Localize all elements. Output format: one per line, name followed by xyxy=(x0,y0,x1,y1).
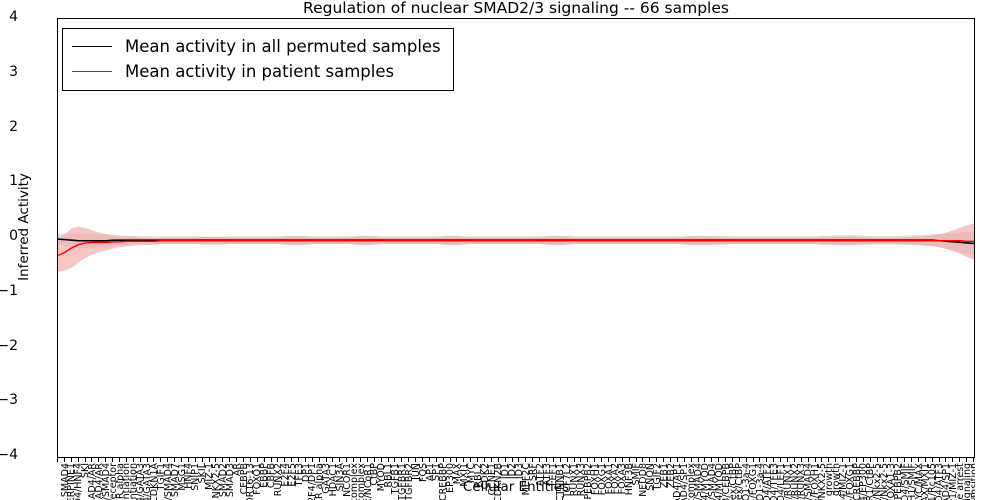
x-tick-mark xyxy=(663,458,664,462)
x-tick-mark xyxy=(952,458,953,462)
x-tick-mark xyxy=(188,458,189,462)
y-tick-label: −3 xyxy=(0,392,18,408)
y-tick-label: 4 xyxy=(0,9,18,25)
x-tick-mark xyxy=(360,458,361,462)
x-tick-mark xyxy=(656,458,657,462)
x-tick-mark xyxy=(119,458,120,462)
x-tick-mark xyxy=(443,458,444,462)
x-tick-mark xyxy=(484,458,485,462)
x-tick-mark xyxy=(753,458,754,462)
x-tick-mark xyxy=(539,458,540,462)
x-tick-mark xyxy=(236,458,237,462)
y-tick-label: −2 xyxy=(0,338,18,354)
x-tick-mark xyxy=(229,458,230,462)
x-tick-mark xyxy=(939,458,940,462)
x-tick-mark xyxy=(746,458,747,462)
chart-figure: Regulation of nuclear SMAD2/3 signaling … xyxy=(0,0,1000,500)
x-tick-mark xyxy=(580,458,581,462)
x-tick-mark xyxy=(560,458,561,462)
y-tick-label: 0 xyxy=(0,228,18,244)
x-tick-mark xyxy=(463,458,464,462)
x-tick-mark xyxy=(85,458,86,462)
x-tick-mark xyxy=(202,458,203,462)
x-tick-mark xyxy=(160,458,161,462)
y-tick-label: 1 xyxy=(0,173,18,189)
x-tick-mark xyxy=(546,458,547,462)
x-tick-mark xyxy=(629,458,630,462)
x-tick-mark xyxy=(401,458,402,462)
x-tick-mark xyxy=(890,458,891,462)
x-tick-mark xyxy=(174,458,175,462)
x-tick-mark xyxy=(842,458,843,462)
x-tick-mark xyxy=(215,458,216,462)
x-tick-mark xyxy=(422,458,423,462)
x-tick-mark xyxy=(291,458,292,462)
x-tick-mark xyxy=(787,458,788,462)
x-tick-mark xyxy=(305,458,306,462)
y-tick-label: −1 xyxy=(0,283,18,299)
x-tick-mark xyxy=(126,458,127,462)
x-tick-mark xyxy=(636,458,637,462)
x-tick-mark xyxy=(367,458,368,462)
y-tick-label: 3 xyxy=(0,64,18,80)
x-tick-mark xyxy=(353,458,354,462)
x-tick-mark xyxy=(711,458,712,462)
x-axis-label: Cellular Entities xyxy=(57,479,975,495)
x-tick-mark xyxy=(849,458,850,462)
x-tick-mark xyxy=(195,458,196,462)
x-tick-mark xyxy=(298,458,299,462)
x-tick-mark xyxy=(821,458,822,462)
x-tick-mark xyxy=(945,458,946,462)
legend-line-swatch xyxy=(72,46,112,47)
x-tick-mark xyxy=(973,458,974,462)
x-tick-mark xyxy=(828,458,829,462)
x-tick-mark xyxy=(966,458,967,462)
x-tick-mark xyxy=(863,458,864,462)
x-tick-mark xyxy=(518,458,519,462)
x-tick-mark xyxy=(704,458,705,462)
x-tick-mark xyxy=(815,458,816,462)
x-tick-mark xyxy=(277,458,278,462)
x-tick-mark xyxy=(773,458,774,462)
x-tick-mark xyxy=(153,458,154,462)
x-tick-mark xyxy=(794,458,795,462)
x-tick-mark xyxy=(691,458,692,462)
x-tick-mark xyxy=(374,458,375,462)
x-tick-mark xyxy=(64,458,65,462)
x-tick-mark xyxy=(608,458,609,462)
x-tick-mark xyxy=(257,458,258,462)
x-tick-mark xyxy=(415,458,416,462)
x-tick-mark xyxy=(332,458,333,462)
x-tick-mark xyxy=(498,458,499,462)
x-tick-mark xyxy=(264,458,265,462)
x-tick-mark xyxy=(491,458,492,462)
x-tick-mark xyxy=(601,458,602,462)
x-tick-mark xyxy=(477,458,478,462)
x-tick-mark xyxy=(71,458,72,462)
x-tick-mark xyxy=(677,458,678,462)
x-tick-mark xyxy=(408,458,409,462)
x-tick-mark xyxy=(456,458,457,462)
x-tick-mark xyxy=(574,458,575,462)
x-tick-mark xyxy=(112,458,113,462)
x-tick-mark xyxy=(394,458,395,462)
x-tick-mark xyxy=(243,458,244,462)
x-tick-mark xyxy=(670,458,671,462)
y-axis-label: Inferred Activity xyxy=(16,17,32,437)
x-tick-mark xyxy=(932,458,933,462)
x-tick-mark xyxy=(904,458,905,462)
x-tick-mark xyxy=(222,458,223,462)
x-tick-mark xyxy=(911,458,912,462)
x-tick-mark xyxy=(78,458,79,462)
legend-label: Mean activity in patient samples xyxy=(125,62,394,81)
x-tick-mark xyxy=(587,458,588,462)
x-tick-mark xyxy=(512,458,513,462)
x-tick-mark xyxy=(140,458,141,462)
x-tick-mark xyxy=(780,458,781,462)
x-tick-mark xyxy=(959,458,960,462)
x-tick-mark xyxy=(346,458,347,462)
x-tick-mark xyxy=(105,458,106,462)
x-tick-mark xyxy=(856,458,857,462)
legend-entry: Mean activity in all permuted samples xyxy=(72,34,441,59)
legend-line-swatch xyxy=(72,71,112,72)
x-tick-mark xyxy=(429,458,430,462)
x-tick-mark xyxy=(732,458,733,462)
x-tick-mark xyxy=(98,458,99,462)
x-tick-mark xyxy=(91,458,92,462)
x-tick-mark xyxy=(649,458,650,462)
x-tick-mark xyxy=(381,458,382,462)
y-tick-label: −4 xyxy=(0,447,18,463)
x-tick-mark xyxy=(801,458,802,462)
x-tick-mark xyxy=(877,458,878,462)
x-tick-mark xyxy=(718,458,719,462)
x-tick-mark xyxy=(897,458,898,462)
x-tick-mark xyxy=(505,458,506,462)
x-tick-mark xyxy=(326,458,327,462)
x-tick-mark xyxy=(594,458,595,462)
chart-title: Regulation of nuclear SMAD2/3 signaling … xyxy=(57,0,975,18)
x-tick-mark xyxy=(835,458,836,462)
x-tick-mark xyxy=(918,458,919,462)
x-tick-mark xyxy=(532,458,533,462)
x-tick-mark xyxy=(57,458,58,462)
x-tick-mark xyxy=(925,458,926,462)
x-tick-mark xyxy=(622,458,623,462)
x-tick-mark xyxy=(181,458,182,462)
x-tick-mark xyxy=(808,458,809,462)
x-tick-mark xyxy=(725,458,726,462)
x-tick-mark xyxy=(870,458,871,462)
x-tick-mark xyxy=(698,458,699,462)
confidence-band xyxy=(58,223,974,272)
x-tick-mark xyxy=(684,458,685,462)
legend-label: Mean activity in all permuted samples xyxy=(125,37,441,56)
x-tick-mark xyxy=(284,458,285,462)
x-tick-mark xyxy=(883,458,884,462)
x-tick-mark xyxy=(759,458,760,462)
x-tick-mark xyxy=(312,458,313,462)
x-tick-mark xyxy=(642,458,643,462)
y-tick-label: 2 xyxy=(0,119,18,135)
x-tick-mark xyxy=(319,458,320,462)
x-tick-mark xyxy=(567,458,568,462)
x-tick-mark xyxy=(250,458,251,462)
x-tick-mark xyxy=(436,458,437,462)
x-tick-mark xyxy=(470,458,471,462)
x-tick-mark xyxy=(450,458,451,462)
x-tick-mark xyxy=(339,458,340,462)
x-tick-mark xyxy=(525,458,526,462)
x-tick-mark xyxy=(739,458,740,462)
x-tick-mark xyxy=(147,458,148,462)
x-tick-mark xyxy=(615,458,616,462)
x-tick-mark xyxy=(209,458,210,462)
x-tick-mark xyxy=(766,458,767,462)
x-tick-mark xyxy=(167,458,168,462)
legend-entry: Mean activity in patient samples xyxy=(72,59,441,84)
x-tick-mark xyxy=(553,458,554,462)
x-tick-mark xyxy=(271,458,272,462)
x-tick-mark xyxy=(133,458,134,462)
chart-legend: Mean activity in all permuted samplesMea… xyxy=(62,28,454,91)
x-tick-mark xyxy=(388,458,389,462)
